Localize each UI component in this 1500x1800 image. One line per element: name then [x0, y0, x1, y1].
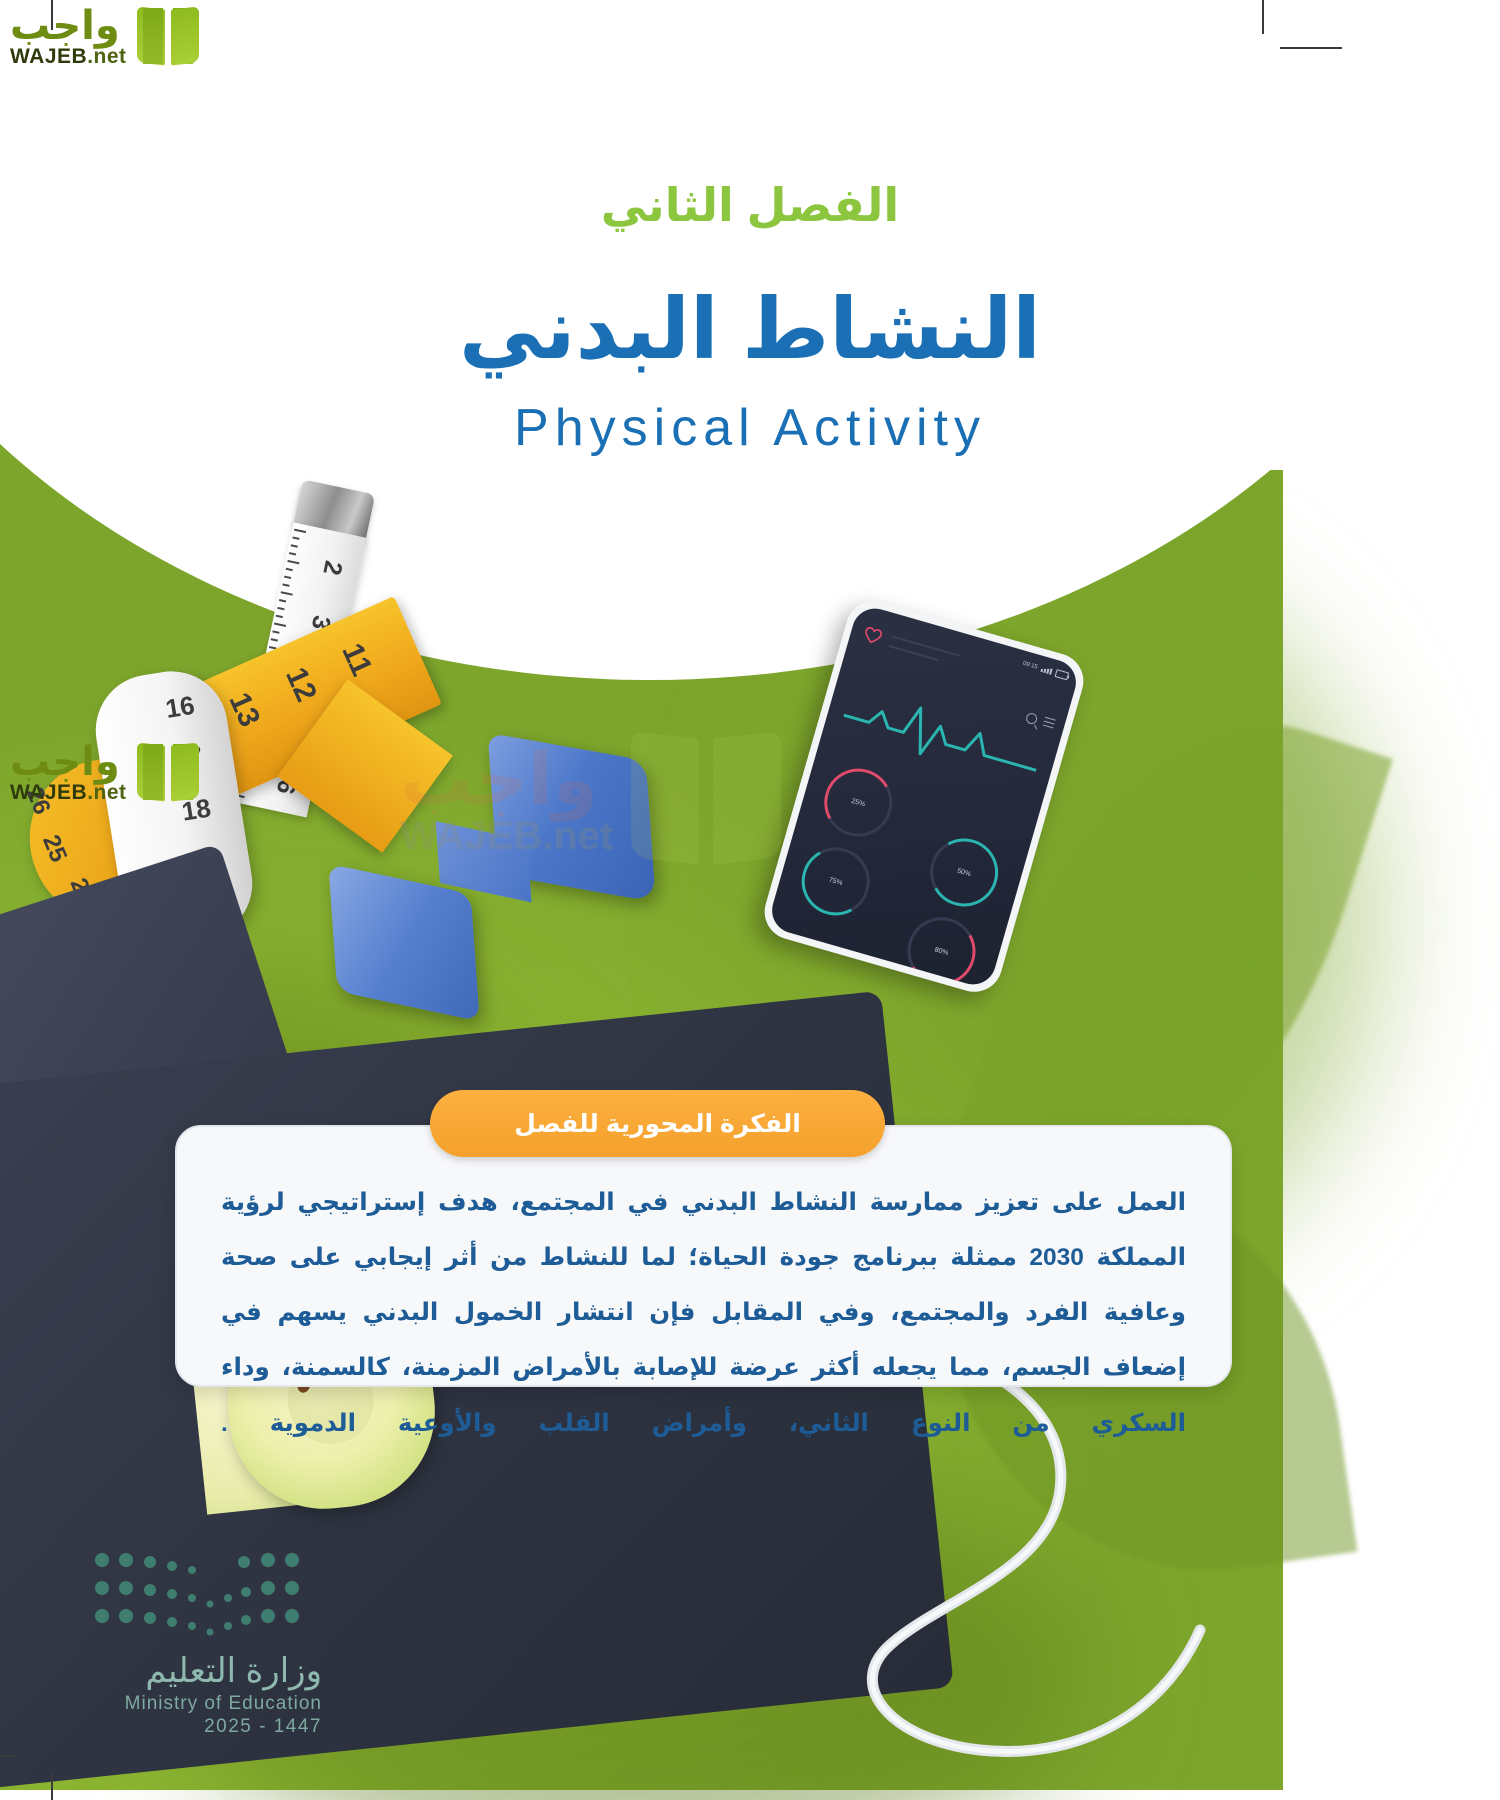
moe-years: 2025 - 1447: [72, 1716, 322, 1738]
wajeb-logo-mid-left: واجب WAJEB.net: [10, 742, 199, 803]
signal-bars-icon: [1040, 666, 1052, 675]
wajeb-logo-text: واجب WAJEB.net: [10, 742, 127, 803]
tape-number: 13: [222, 688, 267, 732]
tape-number: 12: [278, 663, 323, 707]
progress-dial: 25%: [816, 761, 900, 845]
wajeb-arabic: واجب: [10, 742, 127, 782]
dumbbell-head-bottom: [328, 864, 479, 1022]
phone-text-line: [891, 635, 961, 657]
wajeb-latin: WAJEB.net: [10, 46, 127, 67]
hamburger-menu-icon[interactable]: [1043, 717, 1056, 729]
dial-value: 25%: [851, 797, 866, 808]
key-idea-card: العمل على تعزيز ممارسة النشاط البدني في …: [175, 1125, 1232, 1387]
open-book-icon: [137, 8, 199, 66]
phone-status-bar: 09:15: [1022, 660, 1069, 681]
tape-number: 11: [334, 638, 378, 681]
ministry-of-education-logo: وزارة التعليم Ministry of Education 2025…: [72, 1548, 322, 1738]
wajeb-logo-top-left: واجب WAJEB.net: [10, 6, 199, 67]
key-idea-badge: الفكرة المحورية للفصل: [430, 1090, 885, 1157]
open-book-icon: [137, 744, 199, 802]
page-title-arabic: النشاط البدني: [0, 285, 1500, 373]
chapter-cover-page: الفصل الثاني النشاط البدني Physical Acti…: [0, 0, 1500, 1800]
dumbbell-blue: [321, 741, 668, 1023]
crop-mark: [51, 1772, 53, 1800]
dial-value: 80%: [934, 946, 949, 957]
wajeb-logo-text: واجب WAJEB.net: [10, 6, 127, 67]
key-idea-body: العمل على تعزيز ممارسة النشاط البدني في …: [221, 1175, 1186, 1451]
wajeb-latin: WAJEB.net: [10, 782, 127, 803]
crop-mark: [1280, 47, 1342, 49]
tape-number: 2: [316, 558, 347, 578]
chapter-label: الفصل الثاني: [0, 178, 1500, 232]
heart-icon: [861, 624, 885, 647]
status-time: 09:15: [1022, 661, 1038, 671]
crop-mark: [51, 0, 53, 30]
progress-dial: 50%: [922, 830, 1006, 914]
tape-number: 25: [36, 831, 72, 866]
dial-value: 75%: [828, 876, 843, 887]
crop-mark: [1262, 0, 1264, 34]
dial-value: 50%: [956, 867, 971, 878]
page-title-english: Physical Activity: [0, 398, 1500, 458]
moe-dot-pattern-icon: [92, 1548, 322, 1640]
moe-label-english: Ministry of Education: [72, 1693, 322, 1715]
crop-mark: [0, 1755, 18, 1757]
battery-icon: [1055, 669, 1070, 680]
tape-number: 16: [163, 690, 196, 725]
wajeb-arabic: واجب: [10, 6, 127, 46]
moe-label-arabic: وزارة التعليم: [72, 1651, 322, 1691]
progress-dial: 75%: [794, 839, 878, 923]
search-icon[interactable]: [1025, 712, 1039, 726]
